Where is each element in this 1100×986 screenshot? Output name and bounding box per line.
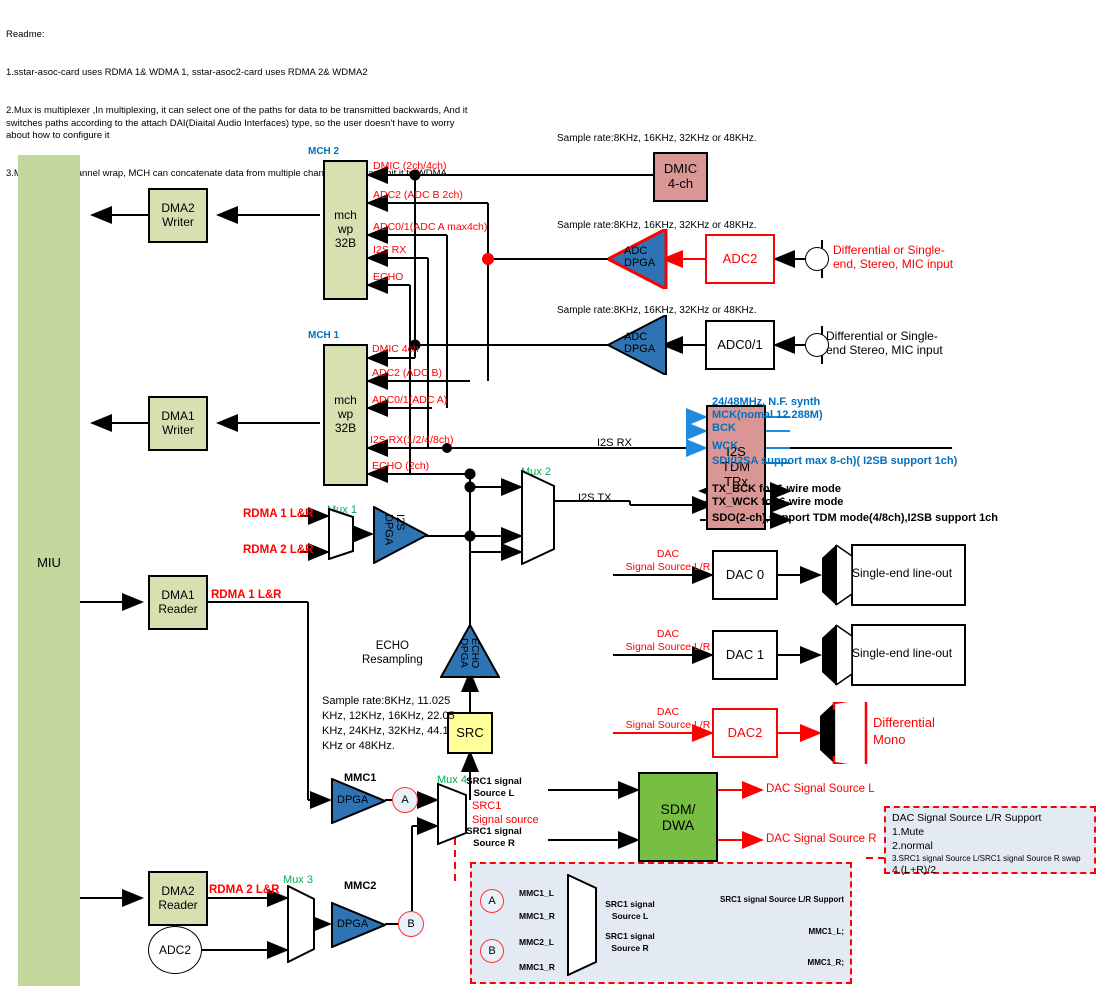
dac1-block[interactable]: DAC 1 bbox=[712, 630, 778, 680]
mmc1-dpga-block[interactable]: DPGA bbox=[330, 778, 386, 824]
src-sample-rate-note: Sample rate:8KHz, 11.025 KHz, 12KHz, 16K… bbox=[322, 694, 455, 753]
mch2-input-label-echo: ECHO bbox=[373, 271, 403, 283]
adc-dpga-lower[interactable]: ADC DPGA bbox=[608, 315, 668, 375]
lineout1-label: Single-end line-out bbox=[852, 646, 952, 660]
mmc1-dpga-label: DPGA bbox=[337, 794, 368, 806]
detail-tag-b: B bbox=[480, 939, 504, 963]
dma1-reader-block[interactable]: DMA1 Reader bbox=[148, 575, 208, 630]
sdm-output-l-label: DAC Signal Source L bbox=[766, 783, 875, 797]
dac1-source-label: DAC Signal Source L/R bbox=[608, 628, 728, 653]
mch1-input-label-echo: ECHO (2ch) bbox=[372, 460, 429, 472]
mch2-input-label-adc01: ADC0/1(ADC A max4ch) bbox=[373, 221, 487, 233]
rdma2-reader-label: RDMA 2 L&R bbox=[209, 884, 280, 898]
tag-a-text: A bbox=[401, 794, 408, 806]
readme-title: Readme: bbox=[6, 29, 476, 42]
mmc2-label: MMC2 bbox=[344, 880, 376, 893]
mch1-input-label-i2srx: I2S RX(1/2/4/8ch) bbox=[370, 434, 453, 446]
adc2-block[interactable]: ADC2 bbox=[705, 234, 775, 284]
mch1-title: MCH 1 bbox=[308, 330, 339, 342]
sdm-output-r-label: DAC Signal Source R bbox=[766, 833, 877, 847]
mch2-title: MCH 2 bbox=[308, 146, 339, 158]
detail-input-1: MMC1_L bbox=[519, 888, 554, 898]
echo-dpga-label: ECHO DPGA bbox=[458, 638, 480, 668]
miu-block bbox=[18, 155, 80, 986]
dma1-writer-block[interactable]: DMA1 Writer bbox=[148, 396, 208, 451]
i2s-signal-txbck: TX_BCK for 6-wire mode bbox=[712, 483, 841, 496]
dmic-block[interactable]: DMIC 4-ch bbox=[653, 152, 708, 202]
tag-b-marker: B bbox=[398, 911, 424, 937]
mch2-input-label-dmic: DMIC (2ch/4ch) bbox=[373, 160, 447, 172]
adc-dpga-lower-label: ADC DPGA bbox=[624, 331, 668, 355]
tag-b-text: B bbox=[407, 918, 414, 930]
adc-dpga-upper-label: ADC DPGA bbox=[624, 245, 668, 269]
dma2-reader-block[interactable]: DMA2 Reader bbox=[148, 871, 208, 926]
i2s-tx-label: I2S TX bbox=[578, 492, 611, 505]
detail-tag-a: A bbox=[480, 889, 504, 913]
i2s-signal-txwck: TX_WCK for 6-wire mode bbox=[712, 496, 843, 509]
i2s-signal-wck: WCK bbox=[712, 440, 738, 453]
mch1-input-label-adc01: ADC0/1(ADC A) bbox=[372, 394, 447, 406]
detail-mux-shape[interactable] bbox=[566, 874, 598, 976]
adc01-input-desc: Differential or Single- end Stereo, MIC … bbox=[826, 329, 943, 357]
sample-rate-note-dmic: Sample rate:8KHz, 16KHz, 32KHz or 48KHz. bbox=[557, 133, 757, 145]
mono-out-label: Differential Mono bbox=[873, 715, 935, 749]
rdma2-mux-label: RDMA 2 L&R bbox=[243, 544, 314, 558]
detail-support-2: MMC1_R; bbox=[694, 958, 844, 969]
mch2-input-label-i2srx: I2S RX bbox=[373, 244, 406, 256]
dac-support-title: DAC Signal Source L/R Support bbox=[892, 812, 1088, 826]
mic-connector-adc2 bbox=[805, 247, 829, 271]
miu-label: MIU bbox=[18, 555, 80, 570]
detail-tag-a-text: A bbox=[488, 895, 495, 907]
dma2-writer-block[interactable]: DMA2 Writer bbox=[148, 188, 208, 243]
rdma1-reader-label: RDMA 1 L&R bbox=[211, 589, 282, 603]
sdm-input-r-label: SRC1 signal Source R bbox=[440, 826, 548, 851]
echo-dpga-block[interactable]: ECHO DPGA bbox=[440, 624, 500, 678]
dac-support-item-1: 1.Mute bbox=[892, 826, 1088, 840]
mono-speaker-shape bbox=[818, 702, 872, 764]
detail-input-4: MMC1_R bbox=[519, 962, 555, 972]
dac-support-item-4: 4.(L+R)/2 bbox=[892, 864, 1088, 878]
i2s-rx-label: I2S RX bbox=[597, 437, 632, 450]
rdma1-mux-label: RDMA 1 L&R bbox=[243, 508, 314, 522]
mch1-input-label-adc2: ADC2 (ADC B) bbox=[372, 367, 442, 379]
tag-a-marker: A bbox=[392, 787, 418, 813]
i2s-signal-sdi: SDI(I2SA support max 8-ch)( I2SB support… bbox=[712, 455, 957, 468]
dac-support-item-3: 3.SRC1 signal Source L/SRC1 signal Sourc… bbox=[892, 854, 1088, 865]
i2s-signal-sdo: SDO(2-ch),support TDM mode(4/8ch),I2SB s… bbox=[712, 512, 998, 525]
diagram-canvas: Readme: 1.sstar-asoc-card uses RDMA 1& W… bbox=[0, 0, 1100, 986]
i2s-dpga-block[interactable]: I2S DPGA bbox=[372, 506, 428, 564]
i2s-dpga-label: I2S DPGA bbox=[382, 514, 405, 545]
dac2-source-label: DAC Signal Source L/R bbox=[608, 706, 728, 731]
mux2-shape[interactable] bbox=[521, 470, 555, 565]
adc2-source-circle[interactable]: ADC2 bbox=[148, 926, 202, 974]
mch2-input-label-adc2: ADC2 (ADC B 2ch) bbox=[373, 189, 463, 201]
adc2-input-desc: Differential or Single- end, Stereo, MIC… bbox=[833, 243, 953, 271]
dac0-block[interactable]: DAC 0 bbox=[712, 550, 778, 600]
readme-line-1: 1.sstar-asoc-card uses RDMA 1& WDMA 1, s… bbox=[6, 67, 476, 80]
detail-support-1: MMC1_L; bbox=[694, 927, 844, 938]
sdm-input-l-label: SRC1 signal Source L bbox=[440, 776, 548, 801]
detail-support-list: SRC1 signal Source L/R Support MMC1_L; M… bbox=[694, 874, 844, 986]
mch1-input-label-dmic: DMIC 4ch bbox=[372, 343, 419, 355]
echo-resampling-label: ECHO Resampling bbox=[362, 640, 423, 667]
dac-support-box: DAC Signal Source L/R Support 1.Mute 2.n… bbox=[884, 806, 1096, 874]
dac-support-item-2: 2.normal bbox=[892, 840, 1088, 854]
adc-dpga-upper[interactable]: ADC DPGA bbox=[608, 229, 668, 289]
mch2-block[interactable]: mch wp 32B bbox=[323, 160, 368, 300]
lineout0-label: Single-end line-out bbox=[852, 566, 952, 580]
i2s-clock-note: 24/48MHz, N.F. synth bbox=[712, 396, 820, 409]
detail-tag-b-text: B bbox=[488, 945, 495, 957]
mch1-block[interactable]: mch wp 32B bbox=[323, 344, 368, 486]
src1-signal-source-label: SRC1 Signal source bbox=[472, 800, 539, 828]
readme-line-2: 2.Mux is multiplexer ,In multiplexing, i… bbox=[6, 105, 476, 143]
i2s-signal-mck: MCK(nomal 12.288M) bbox=[712, 409, 823, 422]
sdm-dwa-block[interactable]: SDM/ DWA bbox=[638, 772, 718, 862]
dac0-source-label: DAC Signal Source L/R bbox=[608, 548, 728, 573]
detail-input-3: MMC2_L bbox=[519, 937, 554, 947]
mmc2-dpga-label: DPGA bbox=[337, 918, 368, 930]
mux3-shape[interactable] bbox=[287, 885, 315, 963]
mmc2-dpga-block[interactable]: DPGA bbox=[330, 902, 386, 948]
dac2-block[interactable]: DAC2 bbox=[712, 708, 778, 758]
detail-out-r: SRC1 signal Source R bbox=[601, 931, 659, 955]
adc01-block[interactable]: ADC0/1 bbox=[705, 320, 775, 370]
mux1-shape[interactable] bbox=[328, 508, 354, 560]
detail-input-2: MMC1_R bbox=[519, 911, 555, 921]
detail-support-title: SRC1 signal Source L/R Support bbox=[694, 895, 844, 906]
i2s-signal-bck: BCK bbox=[712, 422, 736, 435]
detail-out-l: SRC1 signal Source L bbox=[601, 899, 659, 923]
